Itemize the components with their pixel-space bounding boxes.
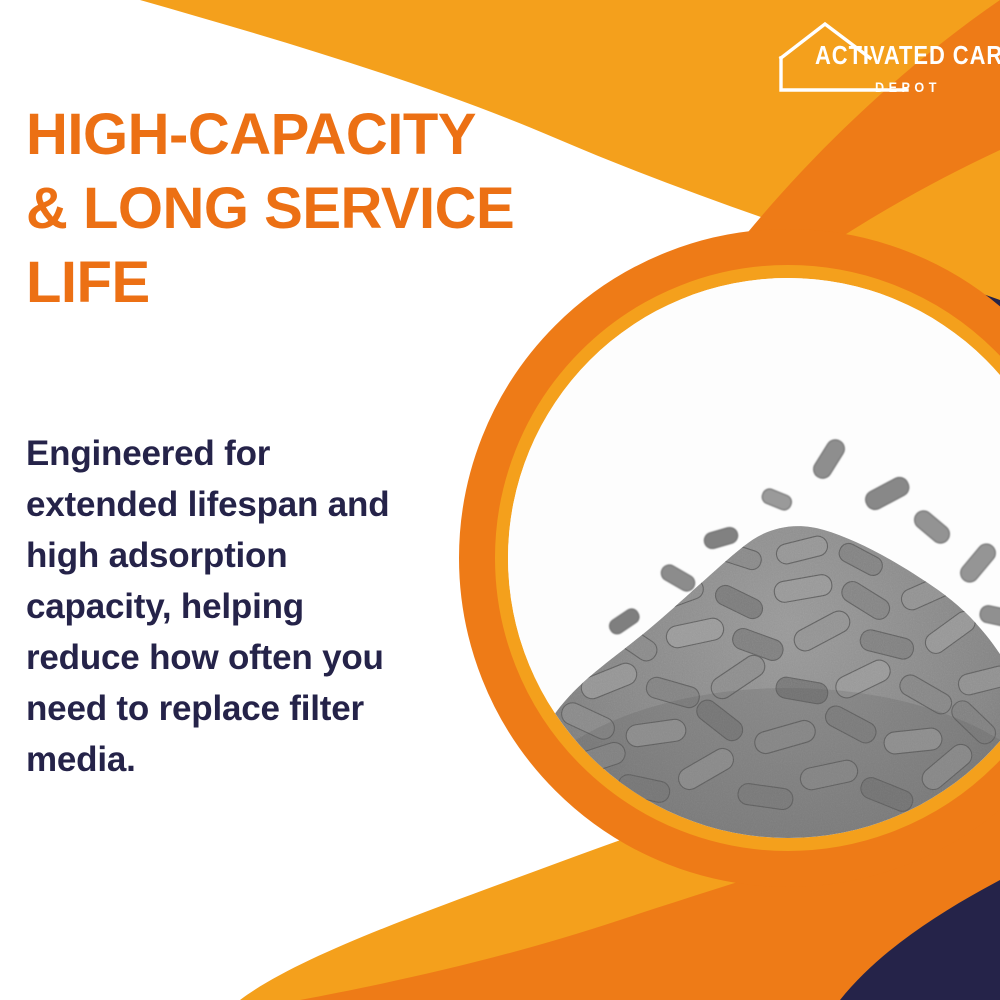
page-title: HIGH-CAPACITY & LONG SERVICE LIFE xyxy=(26,98,566,320)
body-line-1: Engineered for xyxy=(26,428,456,479)
product-photo xyxy=(508,278,1000,838)
headline-line-3: LIFE xyxy=(26,246,566,320)
headline-line-2: & LONG SERVICE xyxy=(26,172,566,246)
headline-line-1: HIGH-CAPACITY xyxy=(26,98,566,172)
brand-logo[interactable]: ACTIVATED CARBON DEPOT xyxy=(775,18,985,96)
body-line-7: media. xyxy=(26,734,456,785)
body-paragraph: Engineered for extended lifespan and hig… xyxy=(26,428,456,785)
logo-wordmark: ACTIVATED CARBON xyxy=(815,44,1000,70)
body-line-5: reduce how often you xyxy=(26,632,456,683)
body-line-6: need to replace filter xyxy=(26,683,456,734)
body-line-3: high adsorption xyxy=(26,530,456,581)
logo-subtitle: DEPOT xyxy=(875,80,941,94)
body-line-2: extended lifespan and xyxy=(26,479,456,530)
promo-graphic: ACTIVATED CARBON DEPOT HIGH-CAPACITY & L… xyxy=(0,0,1000,1000)
carbon-pellets-photo xyxy=(508,278,1000,838)
body-line-4: capacity, helping xyxy=(26,581,456,632)
